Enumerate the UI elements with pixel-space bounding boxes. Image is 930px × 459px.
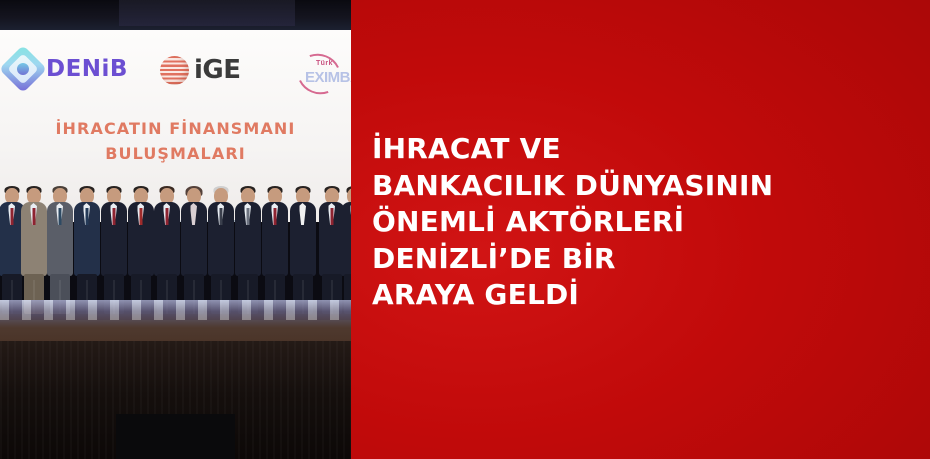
stage-floor [0, 300, 351, 345]
screen-title-line1: İHRACATIN FİNANSMANI [56, 119, 296, 138]
hall-ceiling [0, 0, 351, 32]
people-group [0, 170, 351, 320]
news-headline: İHRACAT VE BANKACILIK DÜNYASININ ÖNEMLİ … [351, 131, 787, 314]
news-card: DENiB iGE Türk EXIMBANK İHRACATIN FİNANS… [0, 0, 930, 459]
denib-mark-icon [0, 45, 47, 93]
screen-title-line2: BULUŞMALARI [0, 141, 351, 166]
headline-line: İHRACAT VE [372, 131, 773, 168]
headline-line: ÖNEMLİ AKTÖRLERİ [372, 204, 773, 241]
eximbank-sublabel: Türk [316, 60, 333, 67]
screen-title: İHRACATIN FİNANSMANI BULUŞMALARI [0, 116, 351, 166]
denib-logo-label: DENiB [46, 56, 128, 82]
headline-panel: İHRACAT VE BANKACILIK DÜNYASININ ÖNEMLİ … [351, 0, 930, 459]
denib-logo: DENiB [6, 52, 128, 86]
ige-logo: iGE [160, 55, 241, 85]
stage-front-panel [0, 341, 351, 459]
globe-icon [160, 56, 189, 85]
headline-line: BANKACILIK DÜNYASININ [372, 168, 773, 205]
headline-line: ARAYA GELDİ [372, 277, 773, 314]
eximbank-label: EXIMBANK [305, 69, 351, 86]
screen-logo-row: DENiB iGE Türk EXIMBANK [0, 42, 351, 104]
ige-logo-label: iGE [194, 55, 241, 85]
headline-line: DENİZLİ’DE BİR [372, 241, 773, 278]
news-photo: DENiB iGE Türk EXIMBANK İHRACATIN FİNANS… [0, 0, 351, 459]
